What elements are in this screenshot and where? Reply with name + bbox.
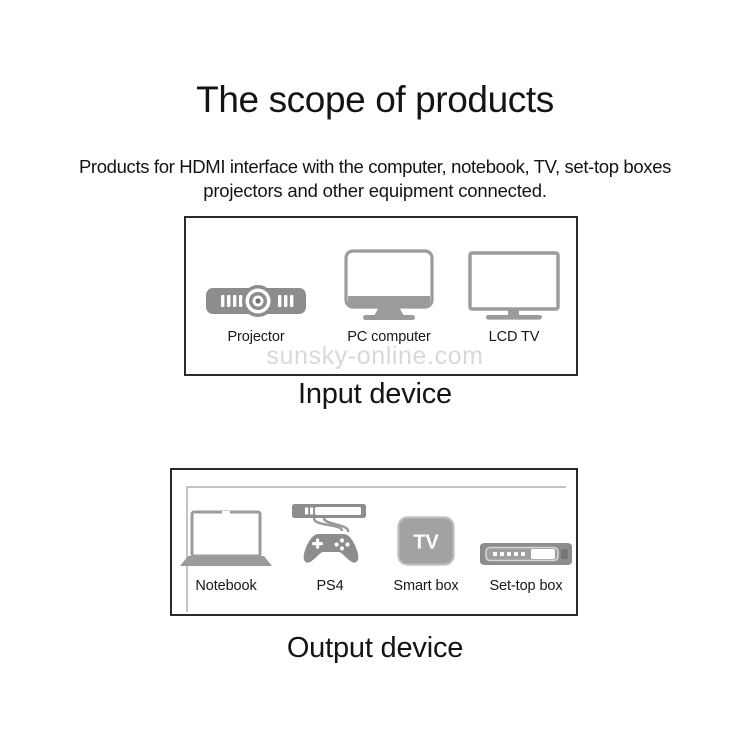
smart-tv-box-icon: TV (396, 495, 456, 571)
device-smart-box: TV Smart box (378, 495, 474, 594)
smart-box-badge-label: TV (413, 532, 439, 554)
tv-icon (467, 244, 561, 322)
game-console-icon (290, 495, 370, 571)
device-projector: Projector (186, 244, 326, 345)
set-top-box-icon (478, 495, 574, 571)
device-label: Smart box (393, 578, 458, 594)
device-lcd-tv: LCD TV (452, 244, 576, 345)
device-label: Set-top box (489, 578, 562, 594)
subtitle-line-2: projectors and other equipment connected… (0, 179, 750, 203)
device-label: PS4 (316, 578, 343, 594)
page-subtitle: Products for HDMI interface with the com… (0, 155, 750, 204)
page-title: The scope of products (0, 80, 750, 121)
device-set-top-box: Set-top box (474, 495, 578, 594)
laptop-icon (178, 495, 274, 571)
device-pc-computer: PC computer (326, 244, 452, 345)
subtitle-line-1: Products for HDMI interface with the com… (0, 155, 750, 179)
output-device-row: Notebook PS4 (170, 482, 578, 594)
watermark: sunsky-online.com (0, 342, 750, 371)
monitor-icon (343, 244, 435, 322)
projector-icon (204, 244, 308, 322)
device-label: Notebook (195, 578, 256, 594)
input-device-caption: Input device (0, 378, 750, 411)
input-device-row: Projector PC computer LCD TV (184, 230, 578, 345)
device-ps4: PS4 (282, 495, 378, 594)
output-device-caption: Output device (0, 632, 750, 665)
device-notebook: Notebook (170, 495, 282, 594)
